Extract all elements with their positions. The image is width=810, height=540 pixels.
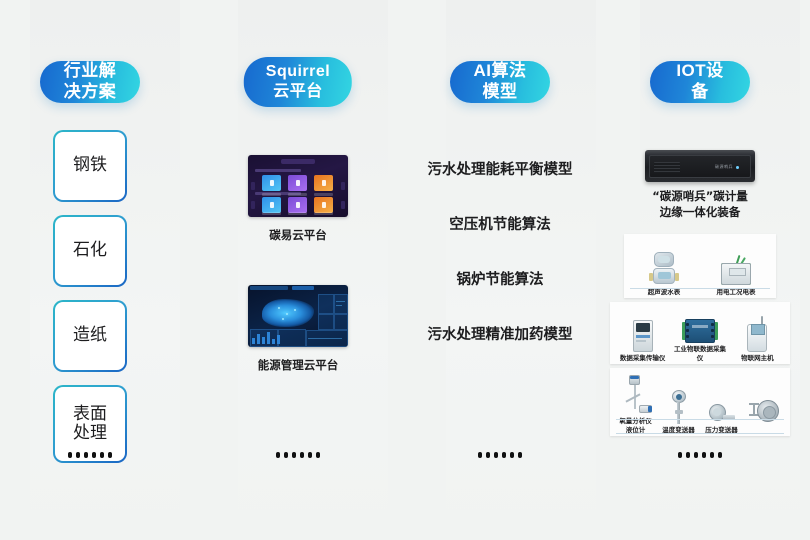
industry-chip-steel[interactable]: 钢铁: [53, 130, 127, 202]
header-pill-iot-devices[interactable]: IOT设备: [650, 61, 750, 103]
iot-edge-server-card[interactable]: 碳源哨兵 “碳源哨兵”碳计量 边缘一体化装备: [610, 150, 790, 220]
platform-thumb-carbon[interactable]: 碳易云平台: [248, 155, 348, 243]
industry-chip-label-line2: 处理: [73, 423, 107, 443]
iot-device-ultrasonic-water-meter[interactable]: 超声波水表: [628, 252, 700, 296]
platform-thumb-caption: 能源管理云平台: [248, 357, 348, 373]
ai-model-item[interactable]: 污水处理精准加药模型: [405, 323, 595, 344]
iot-device-flange-sensor[interactable]: [743, 400, 786, 434]
more-dots-ai: [478, 452, 522, 458]
more-dots-iot: [678, 452, 722, 458]
header-pill-label: AI算法模型: [470, 61, 530, 102]
iot-host-icon: [747, 318, 767, 352]
ai-model-item[interactable]: 锅炉节能算法: [405, 268, 595, 289]
industry-chip-petrochemical[interactable]: 石化: [53, 215, 127, 287]
header-pill-label: IOT设备: [670, 61, 730, 102]
iot-edge-server-caption-line1: “碳源哨兵”碳计量: [652, 189, 748, 203]
ai-model-item[interactable]: 污水处理能耗平衡模型: [405, 158, 595, 179]
carbon-cloud-dashboard-image: [248, 155, 348, 217]
ai-model-item[interactable]: 空压机节能算法: [405, 213, 595, 234]
more-dots-cloud: [276, 452, 320, 458]
iot-device-label: 数据采集传输仪: [614, 354, 671, 362]
industry-chip-papermaking[interactable]: 造纸: [53, 300, 127, 372]
industry-chip-list: 钢铁 石化 造纸 表面 处理: [53, 130, 127, 476]
header-pill-ai-models[interactable]: AI算法模型: [450, 61, 550, 103]
iot-device-row-1: 超声波水表 用电工况电表: [624, 234, 776, 298]
industry-chip-label: 钢铁: [73, 156, 107, 175]
iot-device-label: 物联网主机: [729, 354, 786, 362]
column-industry-solutions: 行业解决方案 钢铁 石化 造纸 表面 处理: [0, 0, 190, 540]
rack-server-icon: 碳源哨兵: [645, 150, 755, 182]
electric-meter-icon: [721, 256, 751, 286]
iot-device-temperature-transmitter[interactable]: 温度变送器: [657, 390, 700, 434]
iot-device-pressure-transmitter[interactable]: 压力变送器: [700, 402, 743, 434]
header-pill-industry-solutions[interactable]: 行业解决方案: [40, 61, 140, 103]
industry-chip-label-line1: 表面: [73, 404, 107, 424]
iot-device-data-acquisition-transmitter[interactable]: 数据采集传输仪: [614, 320, 671, 362]
column-squirrel-cloud: Squirrel 云平台: [198, 0, 398, 540]
header-pill-label-line2: 云平台: [266, 82, 330, 102]
pressure-transmitter-icon: [709, 402, 735, 424]
industry-chip-label: 造纸: [73, 326, 107, 345]
iot-device-row-3: 氧量分析仪 液位计 温度变送器 压力变送器: [610, 368, 790, 436]
energy-cloud-dashboard-image: [248, 285, 348, 347]
iot-edge-server-caption: “碳源哨兵”碳计量 边缘一体化装备: [610, 189, 790, 220]
column-iot-devices: IOT设备 碳源哨兵 “碳源哨兵”碳计量 边缘一体化装备 超声波水: [600, 0, 800, 540]
platform-thumb-caption: 碳易云平台: [248, 227, 348, 243]
iot-device-electricity-meter[interactable]: 用电工况电表: [700, 256, 772, 296]
iot-device-row-2: 数据采集传输仪 工业物联数据采集仪 物联网主机: [610, 302, 790, 364]
column-ai-models: AI算法模型 污水处理能耗平衡模型 空压机节能算法 锅炉节能算法 污水处理精准加…: [400, 0, 600, 540]
data-logger-icon: [633, 320, 653, 352]
diagram-canvas: 行业解决方案 钢铁 石化 造纸 表面 处理: [0, 0, 810, 540]
iot-device-label: 工业物联数据采集仪: [671, 345, 728, 362]
iot-edge-server-caption-line2: 边缘一体化装备: [660, 205, 741, 219]
iot-device-iot-host[interactable]: 物联网主机: [729, 318, 786, 362]
header-pill-squirrel-cloud[interactable]: Squirrel 云平台: [244, 57, 352, 107]
platform-thumb-energy[interactable]: 能源管理云平台: [248, 285, 348, 373]
industry-chip-label: 石化: [73, 241, 107, 260]
header-pill-label: 行业解决方案: [60, 61, 120, 102]
water-meter-icon: [652, 252, 676, 286]
iot-device-oxygen-analyzer[interactable]: 氧量分析仪 液位计: [614, 375, 657, 434]
oxygen-analyzer-icon: [619, 375, 653, 415]
iot-gateway-icon: [685, 319, 715, 343]
iot-device-industrial-iot-collector[interactable]: 工业物联数据采集仪: [671, 319, 728, 362]
more-dots-industry: [68, 452, 112, 458]
ai-model-list: 污水处理能耗平衡模型 空压机节能算法 锅炉节能算法 污水处理精准加药模型: [405, 158, 595, 378]
header-pill-label-line1: Squirrel: [266, 62, 330, 82]
